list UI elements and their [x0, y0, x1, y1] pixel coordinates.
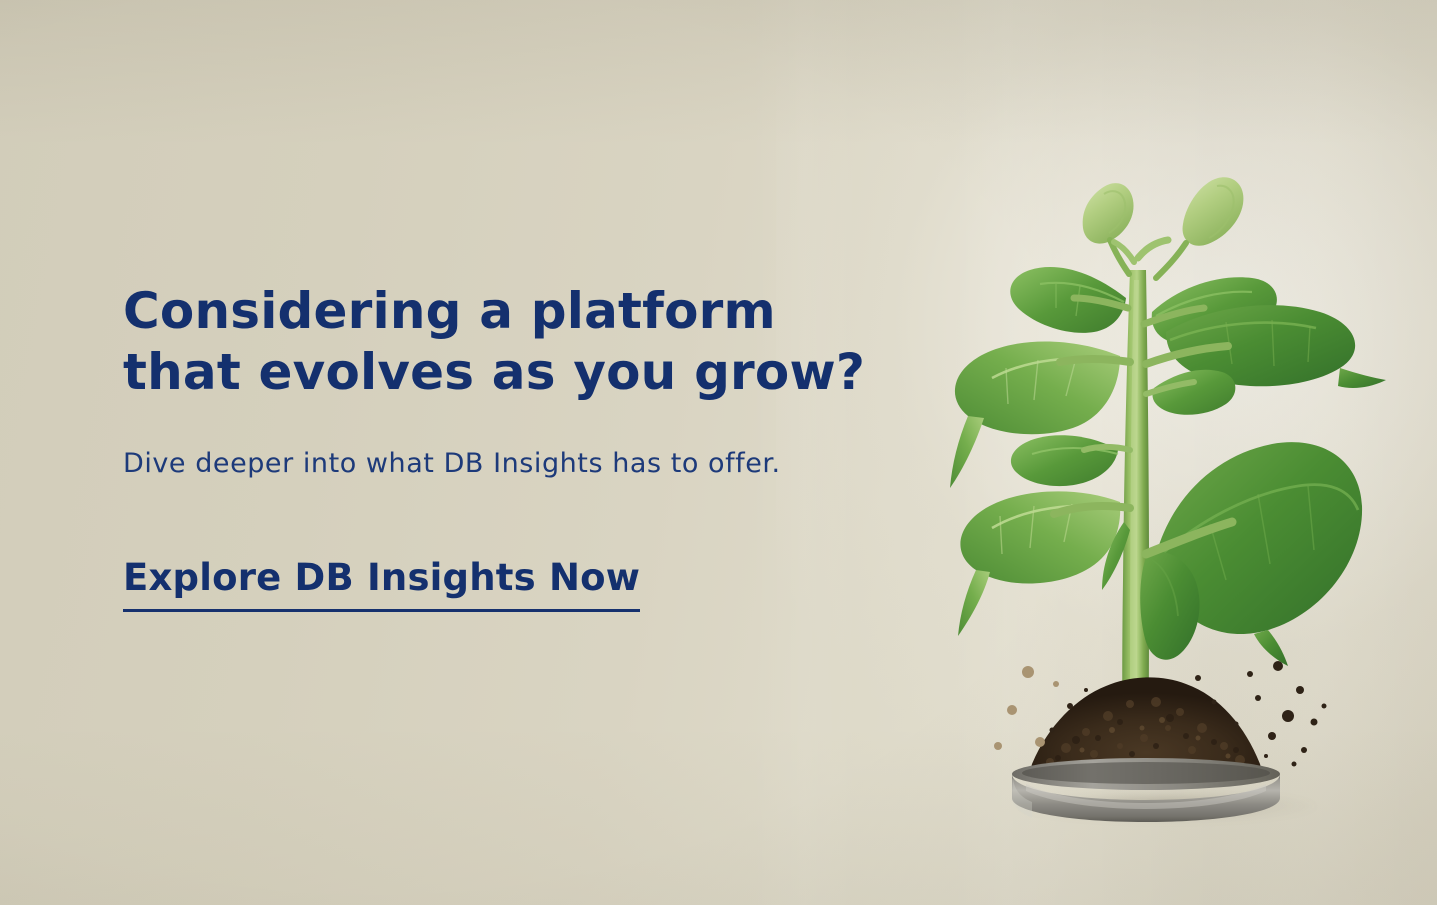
copy-block: Considering a platform that evolves as y…	[123, 281, 943, 612]
leaf-mid-left	[1011, 435, 1118, 486]
plant-buds	[1083, 177, 1244, 278]
leaf-mid-right	[1152, 370, 1235, 415]
leaf-lower-left	[958, 491, 1120, 636]
page-title: Considering a platform that evolves as y…	[123, 281, 943, 403]
cta-container: Explore DB Insights Now	[123, 481, 943, 612]
subheading: Dive deeper into what DB Insights has to…	[123, 403, 943, 481]
metal-dish	[1012, 758, 1280, 822]
seedling-plant-illustration	[880, 150, 1420, 840]
explore-db-insights-link[interactable]: Explore DB Insights Now	[123, 556, 640, 612]
promo-banner: Considering a platform that evolves as y…	[0, 0, 1437, 905]
